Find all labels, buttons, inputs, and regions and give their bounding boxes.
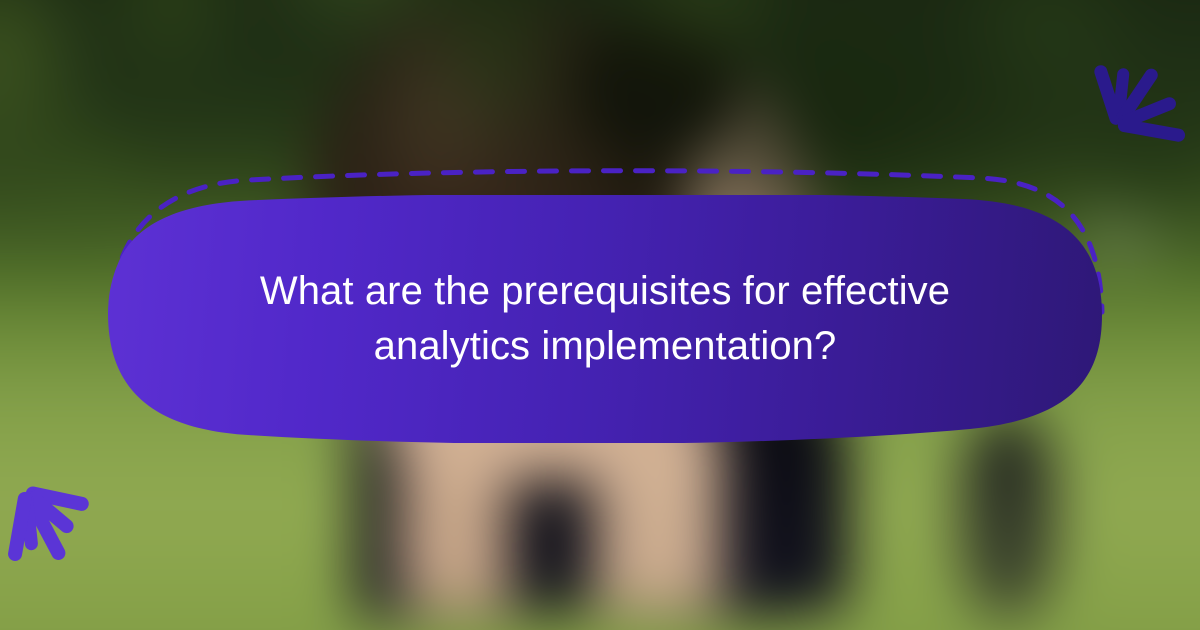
question-text: What are the prerequisites for effective… — [108, 195, 1102, 443]
question-card: What are the prerequisites for effective… — [100, 170, 1110, 455]
sparkle-ray — [1117, 118, 1186, 143]
question-line-2: analytics implementation? — [374, 320, 837, 373]
sparkle-burst-top-right — [1040, 6, 1200, 176]
social-card-canvas: What are the prerequisites for effective… — [0, 0, 1200, 630]
question-line-1: What are the prerequisites for effective — [260, 265, 950, 318]
sparkle-burst-bottom-left — [8, 470, 198, 630]
